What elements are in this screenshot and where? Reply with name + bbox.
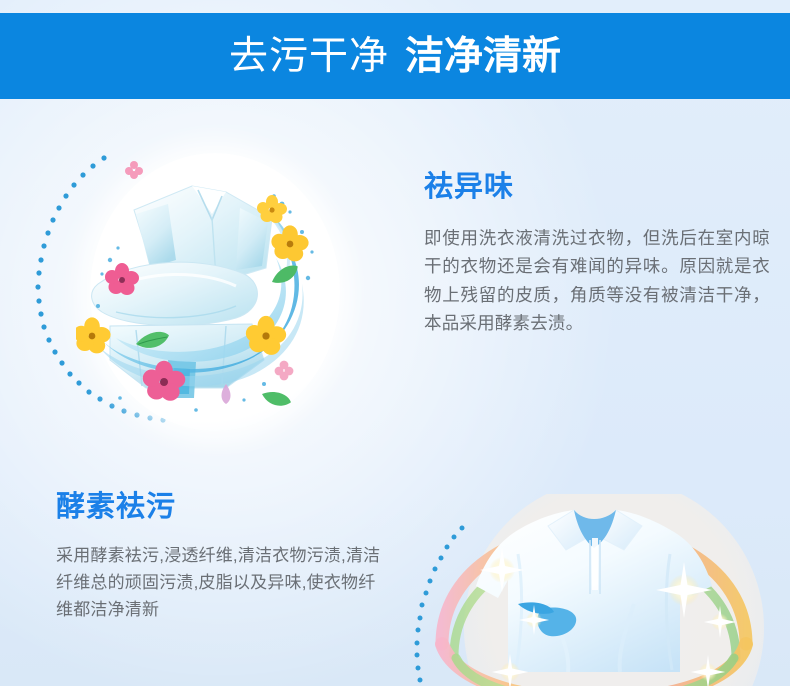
feature-body-odor: 即使用洗衣液清洗过衣物，但洗后在室内晾干的衣物还是会有难闻的异味。原因就是衣物上… (424, 224, 770, 337)
banner-title-light: 去污干净 (229, 35, 389, 78)
flower-blossom-pale (125, 161, 143, 179)
banner-title: 去污干净洁净清新 (229, 37, 561, 76)
banner-headline-strip: 去污干净洁净清新 (0, 13, 790, 99)
feature-heading-odor: 祛异味 (424, 172, 770, 204)
leaf-mint (260, 389, 292, 408)
laundry-artwork (76, 148, 336, 436)
flower-yellow (257, 195, 287, 223)
flower-blossom-pale (275, 361, 294, 381)
feature-block-enzyme: 酵素袪污 采用酵素袪污,浸透纤维,清洁衣物污渍,清洁纤维总的顽固污渍,皮脂以及异… (56, 492, 386, 623)
banner-title-bold: 洁净清新 (405, 35, 561, 78)
polo-shirt-artwork (398, 494, 790, 686)
feature-block-odor: 祛异味 即使用洗衣液清洗过衣物，但洗后在室内晾干的衣物还是会有难闻的异味。原因就… (424, 172, 770, 337)
flower-yellow (76, 317, 111, 353)
white-polo-shirt-rainbow-sparkle-illustration (398, 494, 790, 686)
feature-body-enzyme: 采用酵素袪污,浸透纤维,清洁衣物污渍,清洁纤维总的顽固污渍,皮脂以及异味,使衣物… (56, 542, 386, 624)
product-detail-page: 去污干净洁净清新 (0, 0, 790, 686)
feature-heading-enzyme: 酵素袪污 (56, 492, 386, 524)
folded-shirt-water-splash-flowers-illustration (76, 148, 336, 436)
